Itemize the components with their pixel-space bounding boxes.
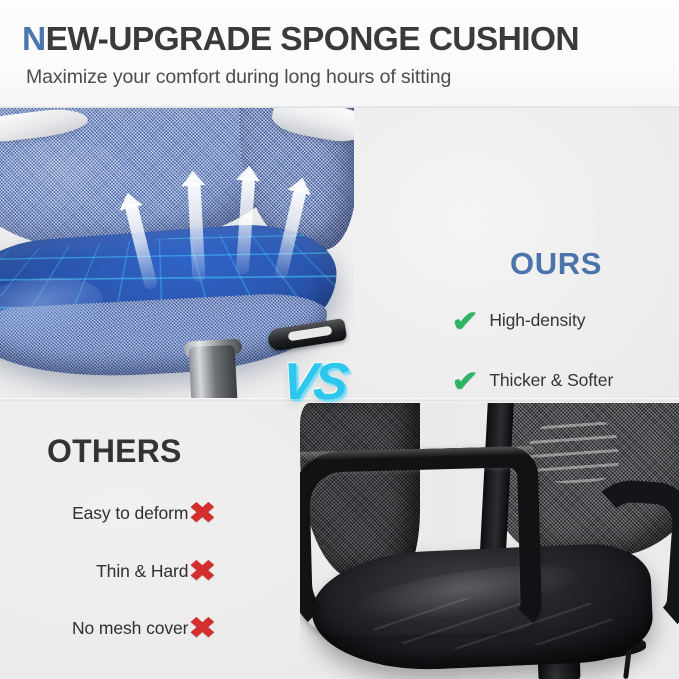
others-feature-label: Easy to deform	[72, 503, 188, 524]
others-heading: OTHERS	[47, 433, 182, 470]
cross-icon: ✖	[189, 557, 217, 585]
title-initial-cap: N	[22, 21, 46, 58]
chair-lumbar-dent	[2, 140, 122, 208]
others-feature-item: No mesh cover ✖	[14, 615, 214, 642]
page-title: NEW-UPGRADE SPONGE CUSHION	[22, 21, 579, 59]
cross-icon: ✖	[189, 499, 217, 527]
ours-heading: OURS	[490, 246, 622, 282]
chair-armrest-left	[300, 446, 542, 638]
check-icon: ✔	[452, 308, 479, 337]
ours-feature-label: High-density	[489, 306, 585, 332]
others-feature-item: Thin & Hard ✖	[14, 558, 214, 585]
vs-badge: VS	[279, 352, 349, 412]
check-icon: ✔	[452, 368, 479, 397]
chair-armrest-right	[579, 477, 679, 634]
ours-feature-item: ✔ Thicker & Softer	[453, 366, 613, 395]
others-chair-photo	[300, 403, 679, 679]
others-feature-item: Easy to deform ✖	[14, 500, 214, 527]
ours-feature-item: ✔ High-density	[453, 306, 585, 335]
arrow-head	[236, 165, 261, 182]
others-feature-label: No mesh cover	[72, 618, 188, 639]
ours-feature-label: Thicker & Softer	[489, 366, 613, 392]
cross-icon: ✖	[189, 614, 217, 642]
page-subtitle: Maximize your comfort during long hours …	[26, 66, 451, 89]
product-comparison-infographic: NEW-UPGRADE SPONGE CUSHION Maximize your…	[0, 0, 679, 679]
chair-gas-cylinder	[189, 345, 238, 400]
others-feature-label: Thin & Hard	[96, 561, 188, 582]
arrow-head	[181, 170, 206, 186]
header-banner: NEW-UPGRADE SPONGE CUSHION Maximize your…	[0, 0, 679, 108]
title-remainder: EW-UPGRADE SPONGE CUSHION	[46, 21, 579, 58]
